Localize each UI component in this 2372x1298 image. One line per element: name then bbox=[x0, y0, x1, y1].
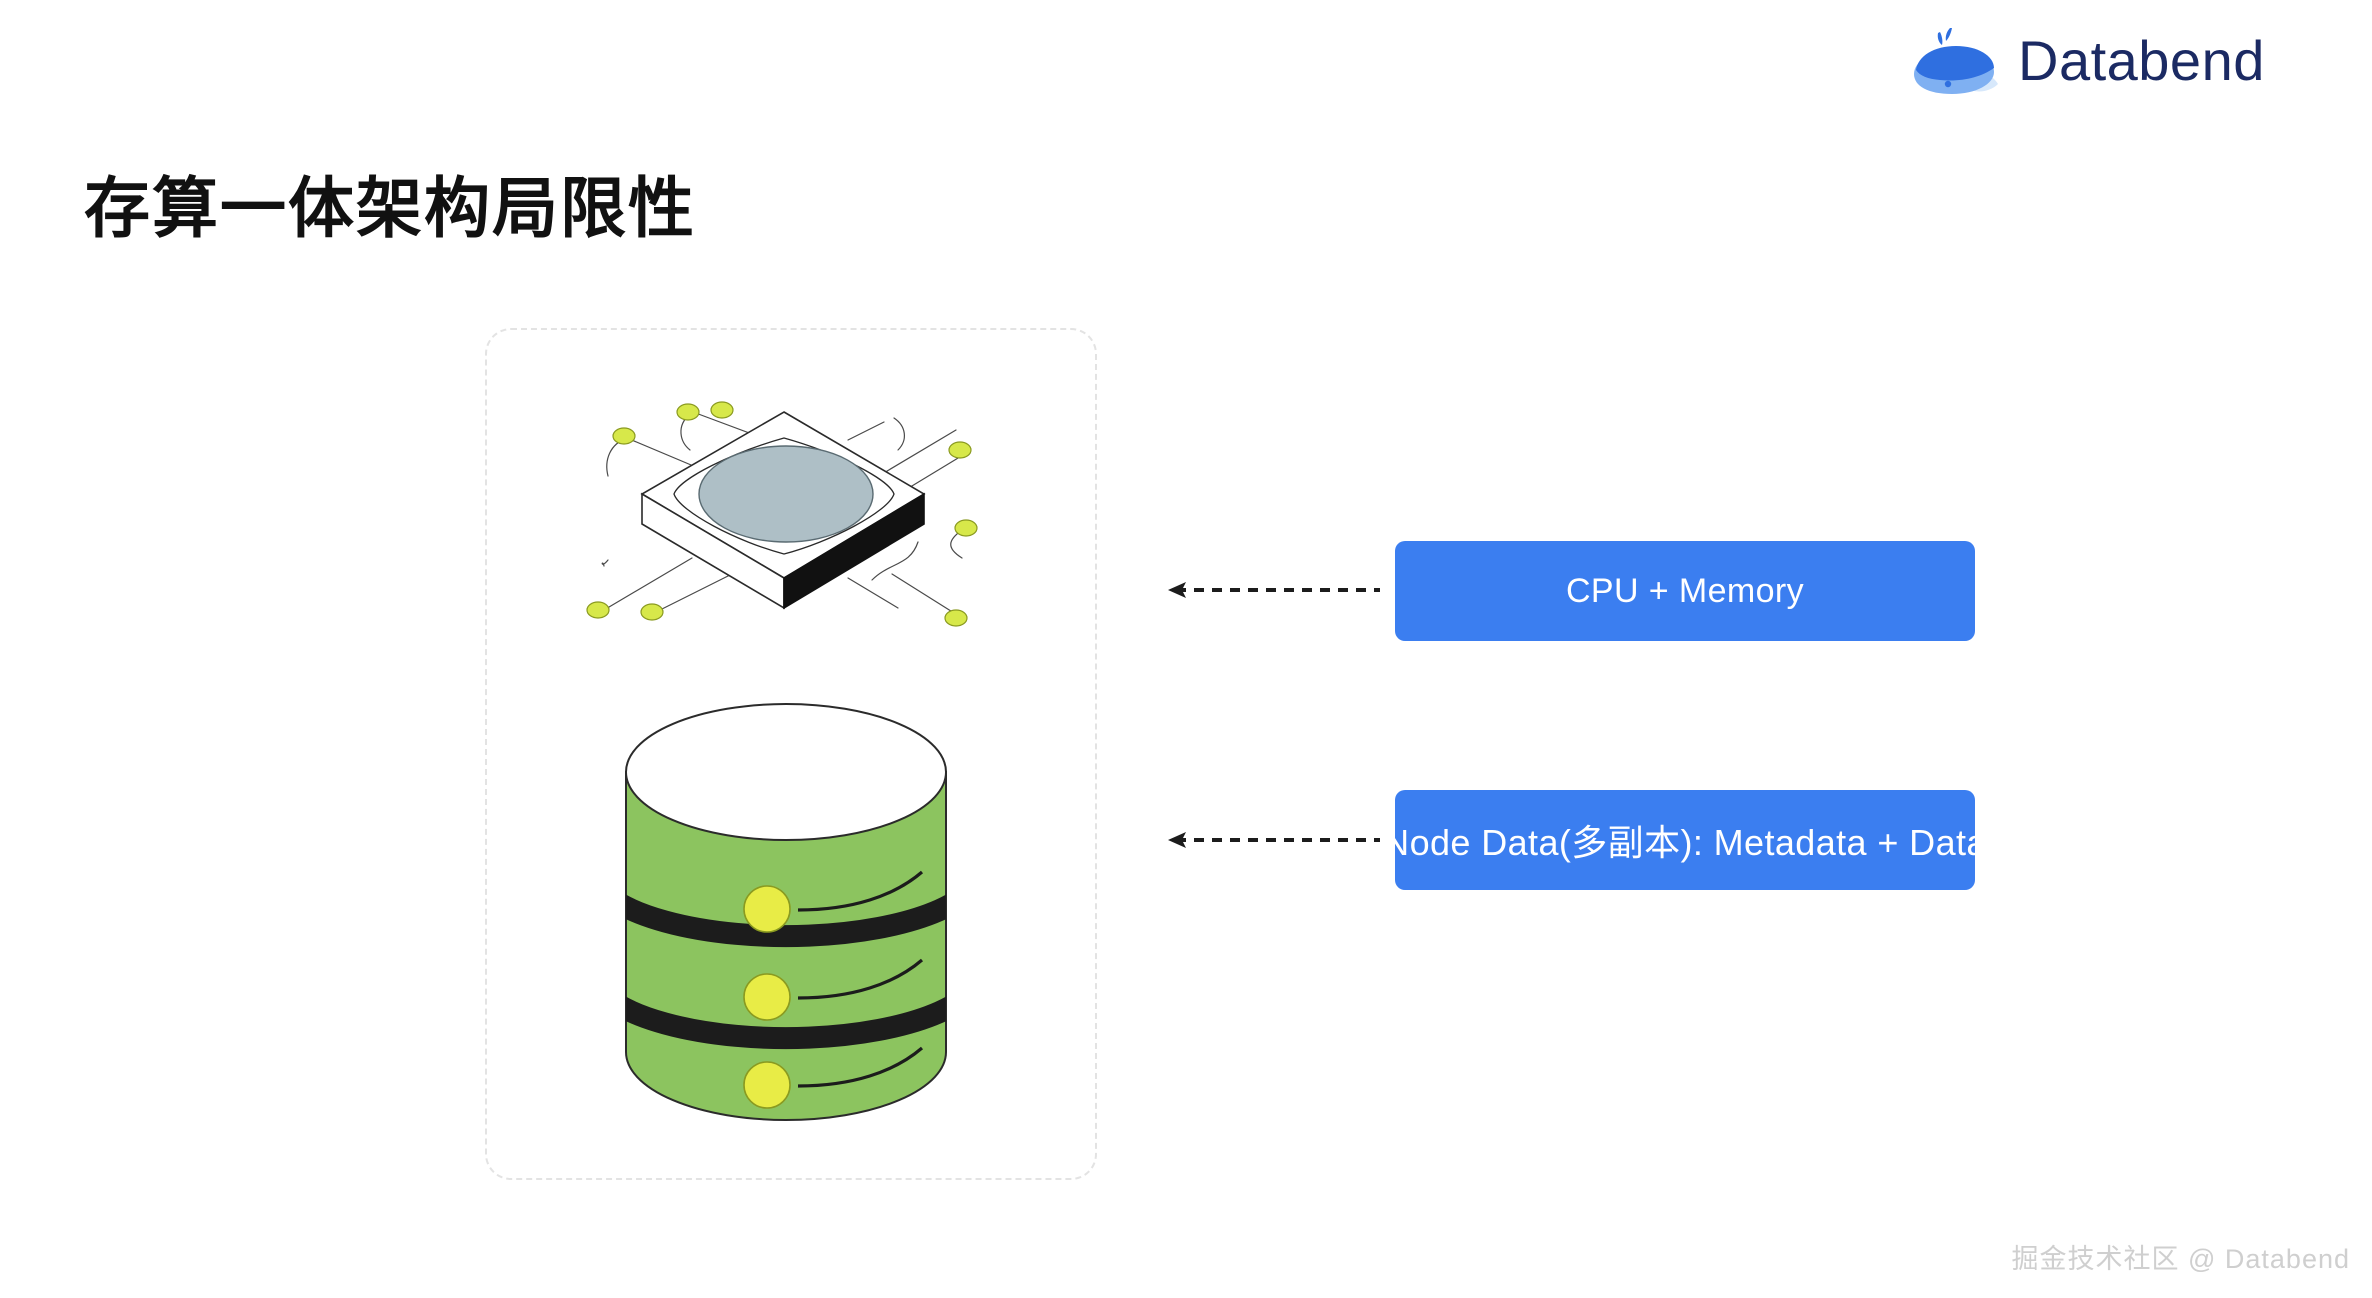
label-box-compute[interactable]: CPU + Memory bbox=[1395, 541, 1975, 641]
footer-watermark: 掘金技术社区 @ Databend bbox=[2011, 1237, 2350, 1276]
connector-cpu bbox=[1168, 578, 1380, 602]
label-box-storage[interactable]: Node Data(多副本): Metadata + Data bbox=[1395, 790, 1975, 890]
database-cylinder-illustration bbox=[612, 700, 960, 1128]
cpu-chip-illustration bbox=[572, 382, 996, 642]
label-box-storage-text: Node Data(多副本): Metadata + Data bbox=[1383, 814, 1987, 866]
page-title: 存算一体架构局限性 bbox=[84, 172, 696, 245]
slide-canvas: Databend 存算一体架构局限性 bbox=[0, 0, 2372, 1298]
whale-logo-icon bbox=[1908, 22, 2000, 100]
label-box-compute-text: CPU + Memory bbox=[1566, 572, 1804, 611]
connector-node bbox=[1168, 828, 1380, 852]
brand-wordmark: Databend bbox=[2018, 33, 2265, 89]
brand-logo: Databend bbox=[1908, 22, 2265, 100]
